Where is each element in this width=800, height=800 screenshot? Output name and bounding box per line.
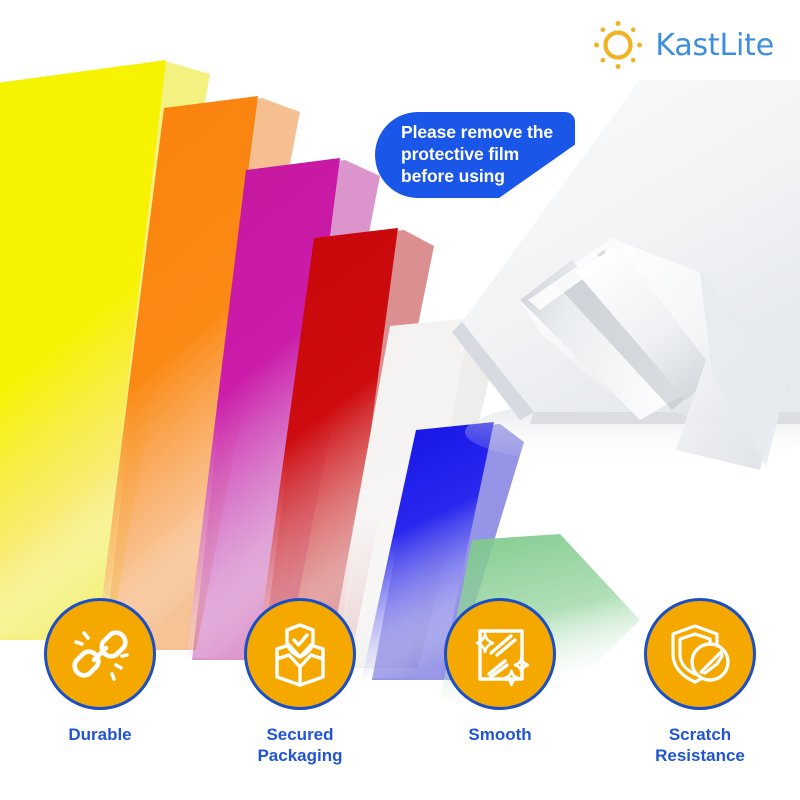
feature-smooth: Smooth: [405, 598, 595, 745]
feature-label: Scratch Resistance: [655, 724, 745, 766]
callout-text: Please remove the protective film before…: [401, 121, 581, 187]
feature-icon-badge: [644, 598, 756, 710]
sun-icon: [591, 18, 645, 72]
sheet-red: [256, 228, 434, 662]
feature-scratch-resistance: Scratch Resistance: [605, 598, 795, 766]
feature-label: Durable: [68, 724, 131, 745]
feature-icon-badge: [244, 598, 356, 710]
feature-icon-badge: [44, 598, 156, 710]
brand-name: KastLite: [655, 28, 774, 63]
feature-icon-badge: [444, 598, 556, 710]
shield-box-icon: [265, 619, 335, 689]
sparkle-panel-icon: [465, 619, 535, 689]
sheet-yellow: [0, 60, 210, 640]
callout-badge: Please remove the protective film before…: [375, 112, 575, 198]
feature-row: Durable Secured Packaging: [0, 598, 800, 766]
sheet-magenta: [186, 158, 380, 660]
shield-blade-icon: [665, 619, 735, 689]
brand-logo: KastLite: [591, 18, 774, 72]
feature-label: Smooth: [468, 724, 531, 745]
product-image: KastLite Please remove the protective fi…: [0, 0, 800, 800]
chain-link-icon: [67, 621, 133, 687]
sheet-orange: [96, 96, 300, 650]
feature-durable: Durable: [5, 598, 195, 745]
feature-secured-packaging: Secured Packaging: [205, 598, 395, 766]
feature-label: Secured Packaging: [257, 724, 342, 766]
